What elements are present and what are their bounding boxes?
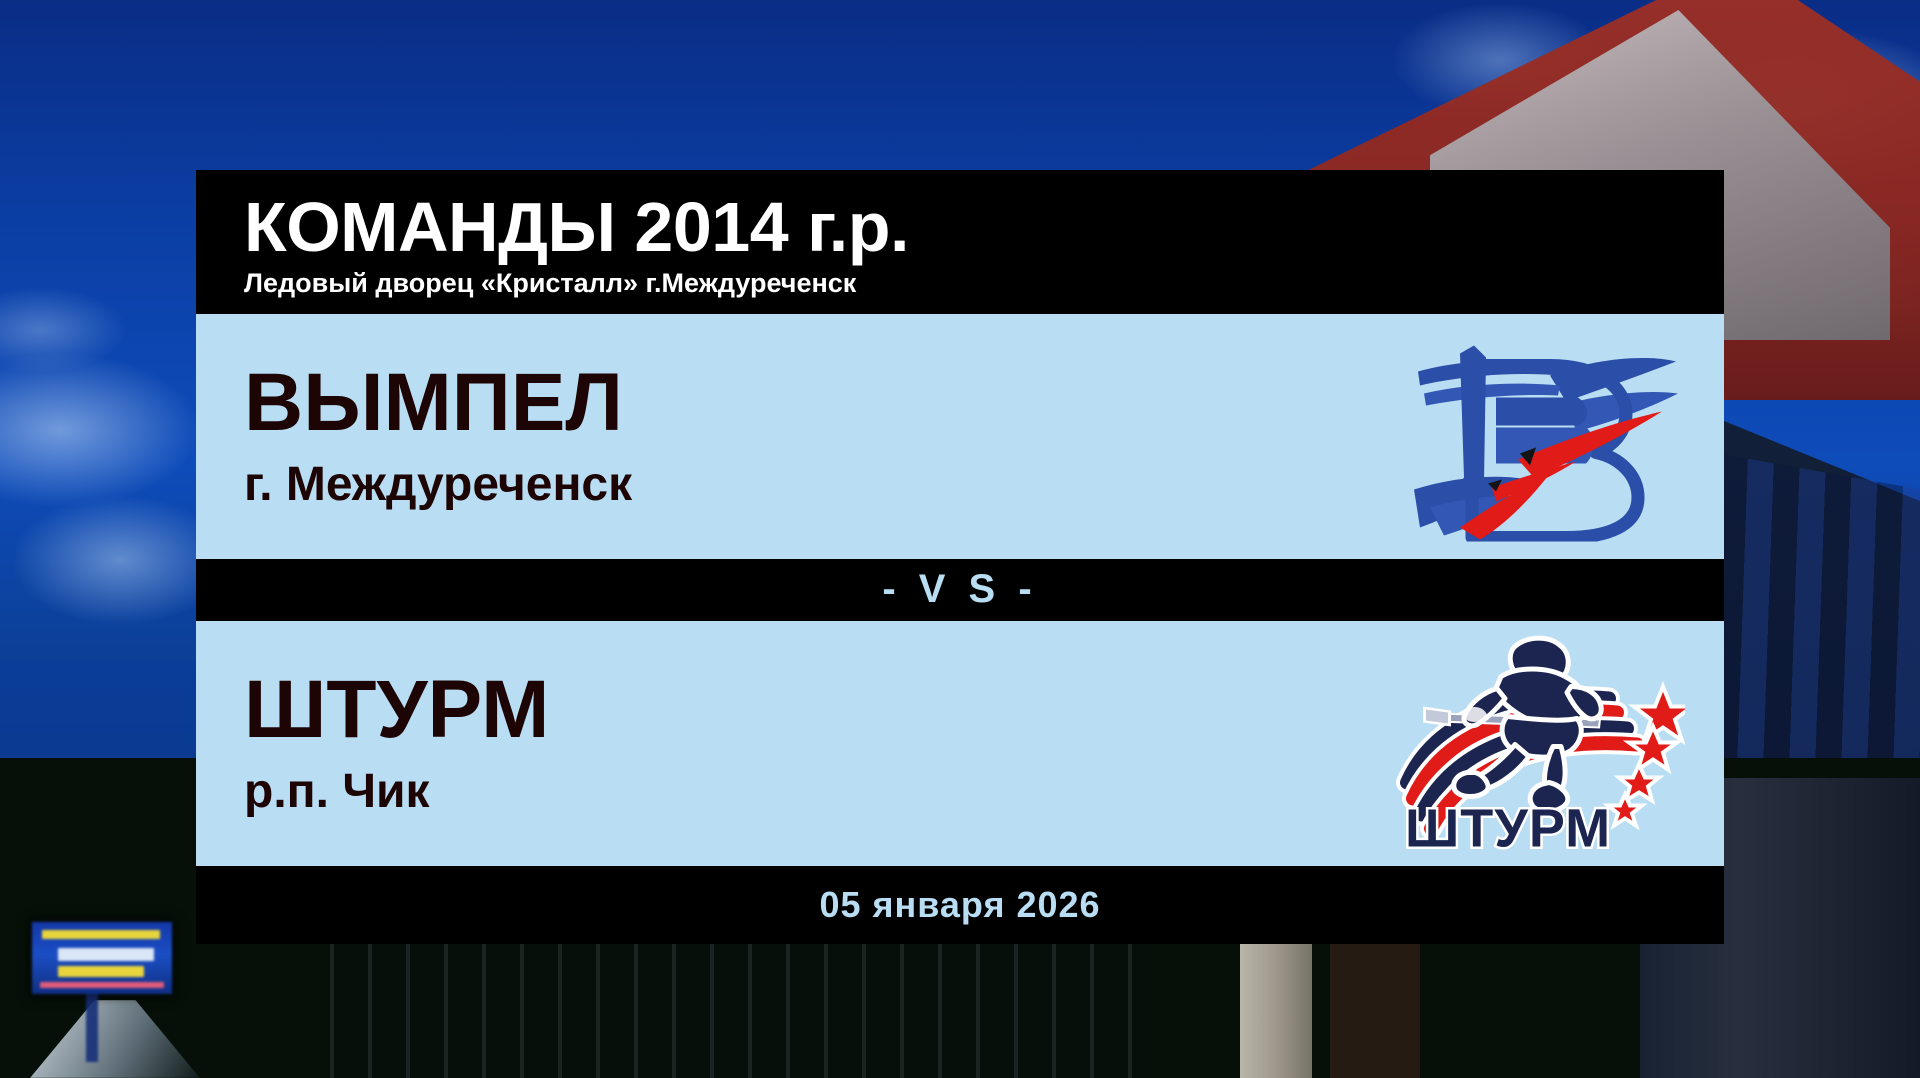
page-title: КОМАНДЫ 2014 г.р. bbox=[244, 192, 1724, 263]
poster-footer: 05 января 2026 bbox=[196, 866, 1724, 944]
versus-label: - V S - bbox=[882, 567, 1037, 612]
billboard-line-4 bbox=[40, 982, 164, 988]
team-away-city: р.п. Чик bbox=[244, 767, 1224, 817]
team-away-name: ШТУРМ bbox=[244, 669, 1224, 751]
street-billboard bbox=[32, 922, 172, 994]
vympel-logo-icon bbox=[1390, 324, 1690, 549]
team-home-name: ВЫМПЕЛ bbox=[244, 362, 1224, 444]
match-date: 05 января 2026 bbox=[819, 884, 1100, 926]
poster-stage: КОМАНДЫ 2014 г.р. Ледовый дворец «Криста… bbox=[0, 0, 1920, 1078]
team-home-city: г. Междуреченск bbox=[244, 460, 1224, 510]
venue-subtitle: Ледовый дворец «Кристалл» г.Междуреченск bbox=[244, 267, 1724, 299]
billboard-line-2 bbox=[58, 948, 154, 961]
team-home-text: ВЫМПЕЛ г. Междуреченск bbox=[196, 362, 1224, 510]
shturm-logo-icon: ШТУРМ bbox=[1390, 631, 1690, 856]
billboard-post bbox=[86, 992, 98, 1062]
billboard-line-1 bbox=[42, 930, 160, 939]
team-row-away: ШТУРМ р.п. Чик bbox=[196, 621, 1724, 866]
billboard-line-3 bbox=[58, 966, 144, 977]
shturm-wordmark: ШТУРМ bbox=[1405, 798, 1611, 854]
poster-header: КОМАНДЫ 2014 г.р. Ледовый дворец «Криста… bbox=[196, 170, 1724, 314]
team-row-home: ВЫМПЕЛ г. Междуреченск bbox=[196, 314, 1724, 559]
match-poster-card: КОМАНДЫ 2014 г.р. Ледовый дворец «Криста… bbox=[196, 170, 1724, 944]
versus-divider: - V S - bbox=[196, 559, 1724, 621]
team-away-text: ШТУРМ р.п. Чик bbox=[196, 669, 1224, 817]
